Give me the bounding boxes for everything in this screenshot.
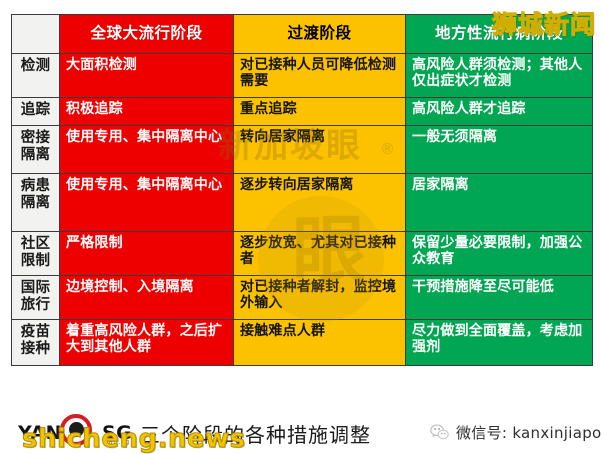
cell-tracing-endemic: 高风险人群才追踪 — [406, 98, 593, 126]
cell-community-restrictions-endemic: 保留少量必要限制，加强公众教育 — [406, 232, 593, 276]
cell-testing-pandemic: 大面积检测 — [60, 54, 234, 98]
row-label-testing: 检测 — [12, 54, 60, 98]
table-row: 追踪 积极追踪 重点追踪 高风险人群才追踪 — [12, 98, 593, 126]
table-row: 社区限制 严格限制 逐步放宽、尤其对已接种者 保留少量必要限制，加强公众教育 — [12, 232, 593, 276]
row-label-vaccination: 疫苗接种 — [12, 320, 60, 366]
cell-community-restrictions-pandemic: 严格限制 — [60, 232, 234, 276]
cell-international-travel-endemic: 干预措施降至尽可能低 — [406, 276, 593, 320]
wechat-id-block: 微信号: kanxinjiapo — [430, 422, 602, 443]
cell-vaccination-transition: 接触难点人群 — [234, 320, 406, 366]
table-row: 国际旅行 边境控制、入境隔离 对已接种者解封，监控境外输入 干预措施降至尽可能低 — [12, 276, 593, 320]
brand-logo-dot-icon — [69, 422, 84, 437]
cell-patient-isolation-transition: 逐步转向居家隔离 — [234, 174, 406, 232]
cell-close-contact-isolation-endemic: 一般无须隔离 — [406, 126, 593, 174]
figure-caption: 三个阶段的各种措施调整 — [140, 419, 371, 448]
cell-patient-isolation-endemic: 居家隔离 — [406, 174, 593, 232]
cell-patient-isolation-pandemic: 使用专用、集中隔离中心 — [60, 174, 234, 232]
cell-community-restrictions-transition: 逐步放宽、尤其对已接种者 — [234, 232, 406, 276]
cell-international-travel-transition: 对已接种者解封，监控境外输入 — [234, 276, 406, 320]
header-transition-phase: 过渡阶段 — [234, 15, 406, 54]
header-corner-blank — [12, 15, 60, 54]
table-row: 病患隔离 使用专用、集中隔离中心 逐步转向居家隔离 居家隔离 — [12, 174, 593, 232]
wechat-id-label: 微信号: kanxinjiapo — [456, 422, 602, 443]
cell-international-travel-pandemic: 边境控制、入境隔离 — [60, 276, 234, 320]
row-label-community-restrictions: 社区限制 — [12, 232, 60, 276]
cell-tracing-transition: 重点追踪 — [234, 98, 406, 126]
cell-testing-transition: 对已接种人员可降低检测需要 — [234, 54, 406, 98]
table-header-row: 全球大流行阶段 过渡阶段 地方性流行病阶段 — [12, 15, 593, 54]
brand-logo: YAN SG yan.sg — [18, 414, 144, 448]
wechat-icon — [430, 424, 449, 441]
brand-logo-text-left: YAN — [18, 422, 62, 444]
table-row: 密接隔离 使用专用、集中隔离中心 转向居家隔离 一般无须隔离 — [12, 126, 593, 174]
header-pandemic-phase: 全球大流行阶段 — [60, 15, 234, 54]
cell-vaccination-endemic: 尽力做到全面覆盖，考虑加强剂 — [406, 320, 593, 366]
cell-close-contact-isolation-transition: 转向居家隔离 — [234, 126, 406, 174]
table-row: 疫苗接种 着重高风险人群，之后扩大到其他人群 接触难点人群 尽力做到全面覆盖，考… — [12, 320, 593, 366]
row-label-international-travel: 国际旅行 — [12, 276, 60, 320]
cell-vaccination-pandemic: 着重高风险人群，之后扩大到其他人群 — [60, 320, 234, 366]
header-endemic-phase: 地方性流行病阶段 — [406, 15, 593, 54]
row-label-tracing: 追踪 — [12, 98, 60, 126]
cell-tracing-pandemic: 积极追踪 — [60, 98, 234, 126]
row-label-close-contact-isolation: 密接隔离 — [12, 126, 60, 174]
table-row: 检测 大面积检测 对已接种人员可降低检测需要 高风险人群须检测；其他人仅出症状才… — [12, 54, 593, 98]
cell-close-contact-isolation-pandemic: 使用专用、集中隔离中心 — [60, 126, 234, 174]
footer-bar: YAN SG yan.sg 三个阶段的各种措施调整 微信号: k — [0, 412, 602, 453]
screenshot-root: 新加坡眼 ® 眼 全球大流行阶段 过渡阶段 地方性流行病阶段 检测 大面积检测 … — [0, 0, 602, 453]
cell-testing-endemic: 高风险人群须检测；其他人仅出症状才检测 — [406, 54, 593, 98]
phase-measures-table: 全球大流行阶段 过渡阶段 地方性流行病阶段 检测 大面积检测 对已接种人员可降低… — [11, 14, 593, 366]
brand-logo-subtext: yan.sg — [104, 438, 130, 446]
row-label-patient-isolation: 病患隔离 — [12, 174, 60, 232]
